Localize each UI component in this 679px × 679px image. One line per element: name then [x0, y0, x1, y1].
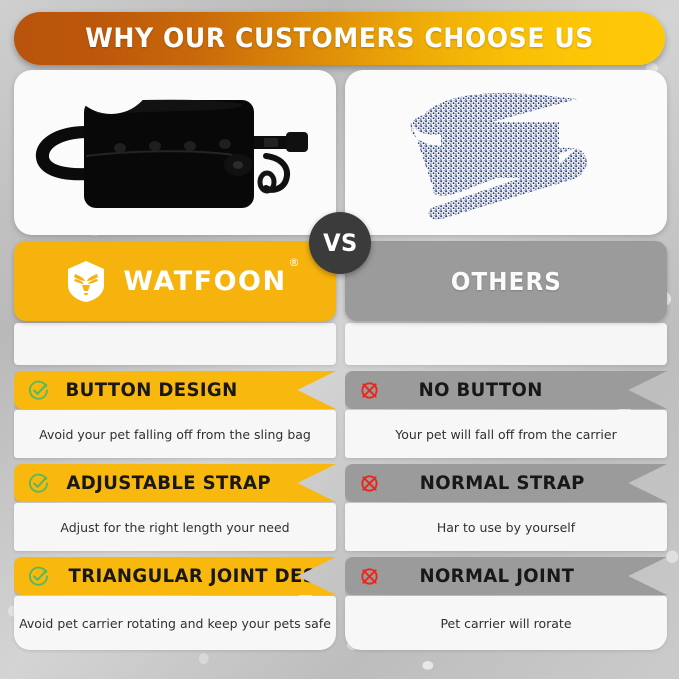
brand-name-text: WATFOON: [123, 266, 286, 297]
feature-title: BUTTON DESIGN: [66, 379, 238, 401]
vs-label: VS: [323, 229, 358, 257]
feature-title: TRIANGULAR JOINT DESIGN: [69, 565, 354, 587]
green-check-circle-icon: [28, 473, 49, 494]
green-check-circle-icon: [28, 566, 49, 587]
feature-banner: BUTTON DESIGN: [14, 371, 336, 409]
feature-banner: NORMAL JOINT: [345, 557, 667, 595]
vs-badge: VS: [309, 212, 371, 274]
competitor-carrier-speckled-illustration: [345, 70, 667, 235]
feature-title: NORMAL STRAP: [397, 472, 585, 494]
red-cross-circle-icon: [359, 380, 380, 401]
competitor-product-photo-card: [345, 70, 667, 235]
feature-description: Har to use by yourself: [437, 520, 575, 535]
brand-name: WATFOON ®: [123, 266, 286, 297]
feature-description: Avoid pet carrier rotating and keep your…: [19, 616, 331, 631]
feature-description-panel: Avoid pet carrier rotating and keep your…: [14, 596, 336, 650]
others-brand-bar: OTHERS: [345, 241, 667, 321]
feature-description: Avoid your pet falling off from the slin…: [39, 427, 311, 442]
registered-trademark-icon: ®: [289, 256, 300, 269]
feature-title: ADJUSTABLE STRAP: [66, 472, 271, 494]
feature-title: NO BUTTON: [396, 379, 543, 401]
watfoon-brand-bar: WATFOON ®: [14, 241, 336, 321]
green-check-circle-icon: [28, 380, 49, 401]
feature-description: Adjust for the right length your need: [60, 520, 289, 535]
left-column-watfoon: WATFOON ® BUTTON DESIGN Avoid your pet f…: [14, 70, 336, 650]
feature-row: ADJUSTABLE STRAP Adjust for the right le…: [14, 464, 336, 551]
feature-description-panel: Your pet will fall off from the carrier: [345, 410, 667, 458]
feature-row: BUTTON DESIGN Avoid your pet falling off…: [14, 371, 336, 458]
watfoon-product-photo-card: [14, 70, 336, 235]
right-spacer-band: [345, 323, 667, 365]
feature-description: Your pet will fall off from the carrier: [395, 427, 616, 442]
others-label: OTHERS: [450, 267, 561, 296]
black-sling-pet-carrier-photo: [14, 70, 336, 235]
page-title: WHY OUR CUSTOMERS CHOOSE US: [85, 23, 594, 54]
comparison-infographic: WHY OUR CUSTOMERS CHOOSE US: [0, 0, 679, 679]
left-spacer-band: [14, 323, 336, 365]
feature-title: NORMAL JOINT: [397, 565, 575, 587]
feature-row: NORMAL JOINT Pet carrier will rorate: [345, 557, 667, 650]
feature-row: NO BUTTON Your pet will fall off from th…: [345, 371, 667, 458]
right-column-others: OTHERS NO BUTTON Your pet will fall off …: [345, 70, 667, 650]
feature-row: TRIANGULAR JOINT DESIGN Avoid pet carrie…: [14, 557, 336, 650]
feature-description-panel: Avoid your pet falling off from the slin…: [14, 410, 336, 458]
feature-banner: TRIANGULAR JOINT DESIGN: [14, 557, 336, 595]
feature-description-panel: Pet carrier will rorate: [345, 596, 667, 650]
feature-description-panel: Adjust for the right length your need: [14, 503, 336, 551]
feature-row: NORMAL STRAP Har to use by yourself: [345, 464, 667, 551]
watfoon-tiger-head-logo: [63, 258, 109, 304]
red-cross-circle-icon: [359, 473, 380, 494]
feature-banner: NORMAL STRAP: [345, 464, 667, 502]
feature-description-panel: Har to use by yourself: [345, 503, 667, 551]
header-banner: WHY OUR CUSTOMERS CHOOSE US: [14, 12, 665, 65]
feature-banner: NO BUTTON: [345, 371, 667, 409]
feature-description: Pet carrier will rorate: [440, 616, 571, 631]
red-cross-circle-icon: [359, 566, 380, 587]
feature-banner: ADJUSTABLE STRAP: [14, 464, 336, 502]
